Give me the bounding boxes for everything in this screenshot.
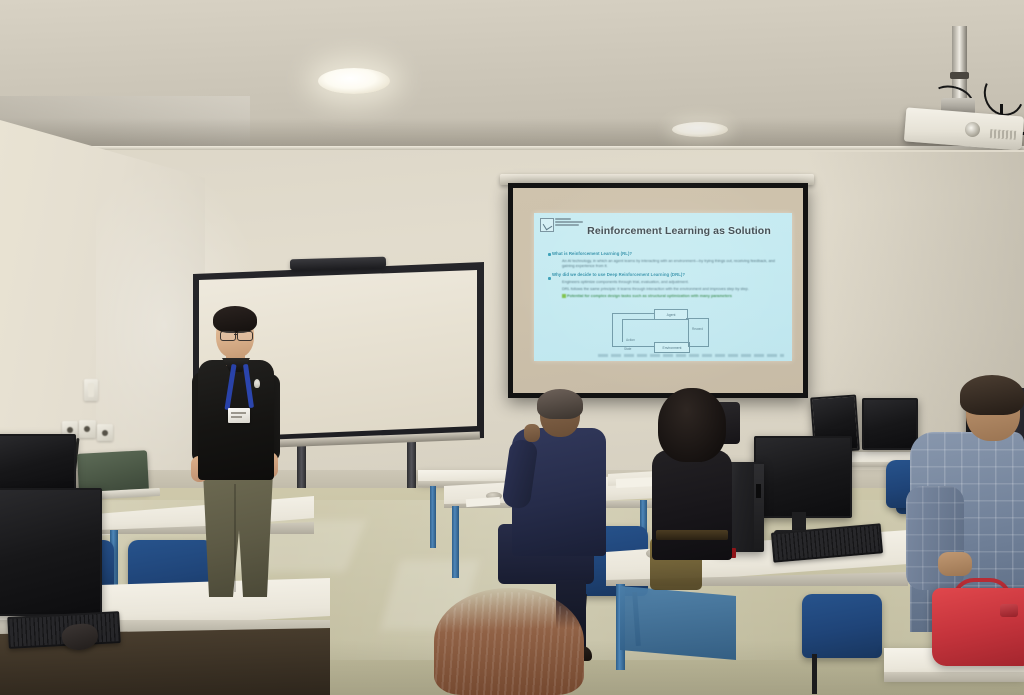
diagram-edge-state: State	[624, 347, 631, 351]
glasses-icon	[237, 331, 253, 341]
slide-bullet-highlight: Potential for complex design tasks such …	[562, 293, 784, 299]
attendee-belt	[656, 530, 728, 540]
trouser-seam	[234, 484, 236, 592]
slide-highlight-text: Potential for complex design tasks such …	[567, 293, 732, 298]
projection-screen: Reinforcement Learning as Solution What …	[508, 183, 808, 398]
classroom-photo: Reinforcement Learning as Solution What …	[0, 0, 1024, 695]
projector-vent	[990, 129, 1017, 140]
monitor-screen	[754, 436, 852, 518]
desk-modesty-panel	[620, 586, 736, 660]
diagram-edge-action: Action	[626, 338, 635, 342]
red-handbag[interactable]	[932, 588, 1024, 666]
slide-body: What is Reinforcement Learning (RL)? An …	[546, 251, 784, 300]
power-outlet[interactable]	[97, 424, 113, 441]
diagram-node-environment: Environment	[654, 342, 690, 353]
attendee-hand	[524, 424, 540, 442]
attendee-hair	[960, 375, 1024, 415]
university-logo-icon	[540, 218, 554, 232]
presenter-hair	[213, 306, 257, 333]
attendee-hair	[537, 389, 583, 419]
green-square-icon	[562, 294, 566, 298]
round-ceiling-light	[672, 122, 728, 137]
glasses-icon	[220, 331, 236, 341]
chair-leg	[812, 654, 817, 694]
round-ceiling-light	[318, 68, 390, 94]
glasses-bridge	[234, 334, 237, 335]
slide-bullet-body: An AI technology, in which an agent lear…	[562, 258, 784, 270]
slide-citation	[598, 354, 784, 357]
slide-bullet-heading: What is Reinforcement Learning (RL)?	[552, 251, 784, 256]
diagram-edge-reward: Reward	[692, 327, 703, 331]
hair-strands	[434, 592, 584, 695]
rl-loop-diagram: Agent Environment Reward Action State	[612, 309, 722, 351]
name-badge	[228, 408, 250, 423]
slide-bullet-body: DRL follows the same principle: it learn…	[562, 286, 784, 292]
chair-back	[802, 594, 882, 658]
presentation-slide: Reinforcement Learning as Solution What …	[534, 213, 792, 361]
monitor-screen	[0, 488, 102, 616]
attendee-top	[652, 450, 732, 560]
desk-leg	[430, 486, 436, 548]
projector-pole-band	[950, 72, 969, 79]
desk-edge	[884, 672, 1024, 682]
power-outlet[interactable]	[79, 420, 96, 438]
screen-canvas: Reinforcement Learning as Solution What …	[513, 188, 803, 393]
shirt-logo-icon	[254, 379, 260, 388]
slide-title: Reinforcement Learning as Solution	[574, 225, 784, 237]
attendee-hair	[658, 388, 726, 462]
monitor-screen	[862, 398, 918, 450]
slide-bullet-heading: Why did we decide to use Deep Reinforcem…	[552, 272, 784, 277]
attendee-hand	[938, 552, 972, 576]
handbag-clasp	[1000, 604, 1018, 617]
slide-bullet-body: Engineers optimize components through tr…	[562, 279, 784, 285]
light-switch[interactable]	[84, 379, 98, 401]
monitor-screen	[0, 434, 76, 492]
desk-leg	[452, 506, 459, 578]
